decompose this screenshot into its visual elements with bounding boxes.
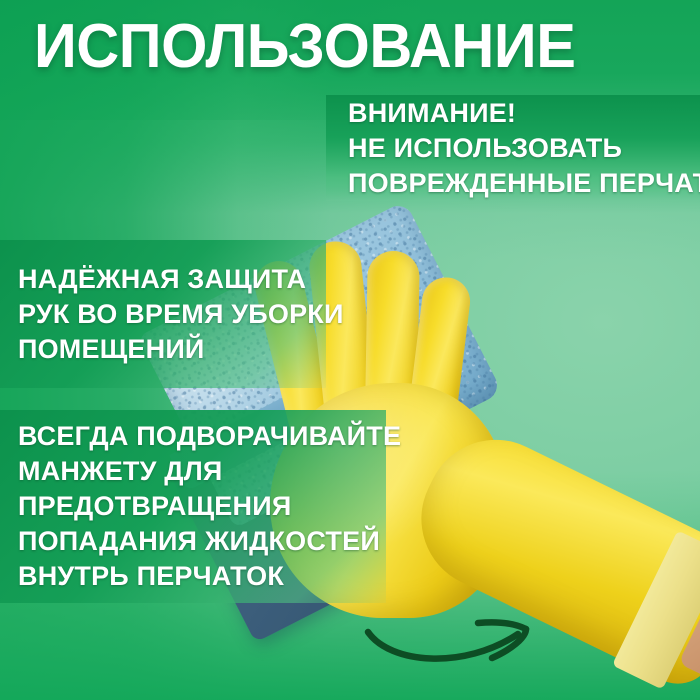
cuff-line-2: МАНЖЕТУ ДЛЯ: [18, 454, 386, 489]
attention-line-1: ВНИМАНИЕ!: [348, 96, 700, 131]
cuff-line-1: ВСЕГДА ПОДВОРАЧИВАЙТЕ: [18, 419, 386, 454]
protection-panel: НАДЁЖНАЯ ЗАЩИТА РУК ВО ВРЕМЯ УБОРКИ ПОМЕ…: [0, 240, 326, 388]
protection-line-3: ПОМЕЩЕНИЙ: [18, 332, 326, 367]
attention-panel: ВНИМАНИЕ! НЕ ИСПОЛЬЗОВАТЬ ПОВРЕЖДЕННЫЕ П…: [326, 95, 700, 201]
cuff-line-3: ПРЕДОТВРАЩЕНИЯ: [18, 489, 386, 524]
protection-line-2: РУК ВО ВРЕМЯ УБОРКИ: [18, 297, 326, 332]
attention-line-3: ПОВРЕЖДЕННЫЕ ПЕРЧАТКИ: [348, 166, 700, 201]
curved-arrow-icon: [360, 606, 560, 678]
poster-canvas: ИСПОЛЬЗОВАНИЕ ВНИМАНИЕ! НЕ ИСПОЛЬЗОВАТЬ …: [0, 0, 700, 700]
protection-line-1: НАДЁЖНАЯ ЗАЩИТА: [18, 262, 326, 297]
attention-line-2: НЕ ИСПОЛЬЗОВАТЬ: [348, 131, 700, 166]
cuff-instruction-panel: ВСЕГДА ПОДВОРАЧИВАЙТЕ МАНЖЕТУ ДЛЯ ПРЕДОТ…: [0, 410, 386, 603]
cuff-line-5: ВНУТРЬ ПЕРЧАТОК: [18, 559, 386, 594]
page-title: ИСПОЛЬЗОВАНИЕ: [34, 14, 575, 80]
cuff-line-4: ПОПАДАНИЯ ЖИДКОСТЕЙ: [18, 524, 386, 559]
